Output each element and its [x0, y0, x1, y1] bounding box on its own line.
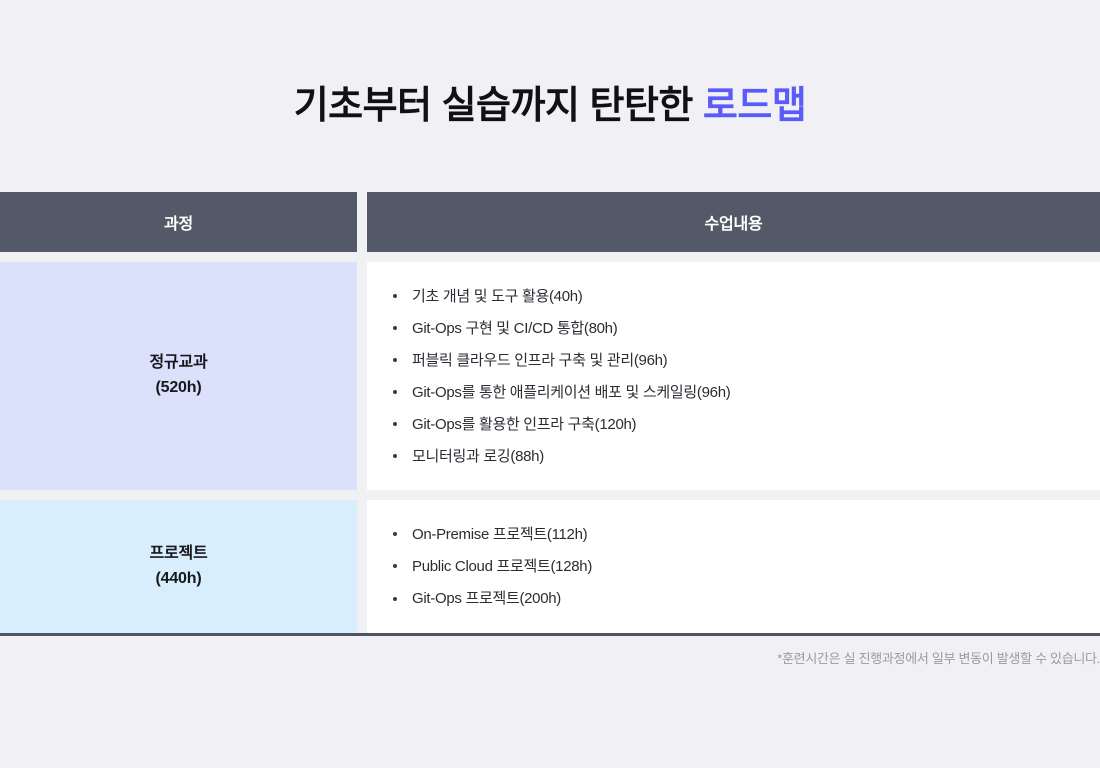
table-header-row: 과정 수업내용: [0, 192, 1100, 252]
header-cell-course: 과정: [0, 192, 357, 252]
footnote-text: *훈련시간은 실 진행과정에서 일부 변동이 발생할 수 있습니다.: [777, 648, 1100, 667]
list-item: Git-Ops 프로젝트(200h): [392, 583, 1100, 615]
course-hours: (520h): [156, 376, 202, 401]
list-item: 모니터링과 로깅(88h): [392, 440, 1100, 472]
curriculum-list-regular: 기초 개념 및 도구 활용(40h) Git-Ops 구현 및 CI/CD 통합…: [367, 280, 1100, 472]
curriculum-list-project: On-Premise 프로젝트(112h) Public Cloud 프로젝트(…: [367, 518, 1100, 615]
page-title-section: 기초부터 실습까지 탄탄한 로드맵: [0, 0, 1100, 192]
content-cell-regular: 기초 개념 및 도구 활용(40h) Git-Ops 구현 및 CI/CD 통합…: [367, 262, 1100, 490]
list-item: 퍼블릭 클라우드 인프라 구축 및 관리(96h): [392, 344, 1100, 376]
list-item: Git-Ops 구현 및 CI/CD 통합(80h): [392, 312, 1100, 344]
content-cell-project: On-Premise 프로젝트(112h) Public Cloud 프로젝트(…: [367, 500, 1100, 633]
table-row: 정규교과 (520h) 기초 개념 및 도구 활용(40h) Git-Ops 구…: [0, 262, 1100, 490]
footnote-section: *훈련시간은 실 진행과정에서 일부 변동이 발생할 수 있습니다.: [0, 636, 1100, 667]
list-item: Public Cloud 프로젝트(128h): [392, 550, 1100, 582]
list-item: On-Premise 프로젝트(112h): [392, 518, 1100, 550]
course-cell-regular: 정규교과 (520h): [0, 262, 357, 490]
header-cell-content: 수업내용: [367, 192, 1100, 252]
page-title-main: 기초부터 실습까지 탄탄한: [294, 85, 703, 127]
list-item: Git-Ops를 통한 애플리케이션 배포 및 스케일링(96h): [392, 376, 1100, 408]
roadmap-table: 과정 수업내용 정규교과 (520h) 기초 개념 및 도구 활용(40h) G…: [0, 192, 1100, 636]
course-name: 프로젝트: [149, 542, 207, 567]
header-cell-course-label: 과정: [164, 210, 193, 234]
course-hours: (440h): [156, 567, 202, 592]
header-cell-content-label: 수업내용: [704, 210, 762, 234]
page-title: 기초부터 실습까지 탄탄한 로드맵: [294, 74, 807, 129]
list-item: Git-Ops를 활용한 인프라 구축(120h): [392, 408, 1100, 440]
list-item: 기초 개념 및 도구 활용(40h): [392, 280, 1100, 312]
table-row: 프로젝트 (440h) On-Premise 프로젝트(112h) Public…: [0, 500, 1100, 633]
course-cell-project: 프로젝트 (440h): [0, 500, 357, 633]
course-name: 정규교과: [149, 351, 207, 376]
page-title-accent: 로드맵: [703, 85, 806, 127]
